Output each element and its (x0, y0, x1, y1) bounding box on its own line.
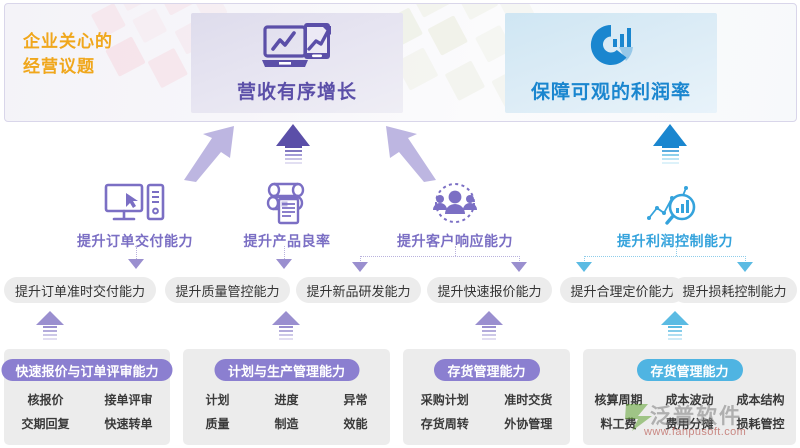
sub-capability-box[interactable]: 提升合理定价能力 (560, 277, 685, 303)
panel-item: 准时交货 (504, 391, 552, 408)
page-title: 企业关心的 经营议题 (23, 29, 183, 79)
donut-bar-chart-icon (583, 19, 639, 75)
panel-item: 制造 (274, 415, 298, 432)
panel-item: 接单评审 (104, 391, 152, 408)
page-title-line2: 经营议题 (23, 54, 183, 79)
diagram-canvas: 企业关心的 经营议题 (0, 0, 800, 448)
connector-customer-response (348, 246, 528, 278)
panel-item: 进度 (274, 391, 298, 408)
sub-capability-box[interactable]: 提升快速报价能力 (427, 277, 552, 303)
panel-plan-production[interactable]: 计划与生产管理能力 计划 进度 异常 质量 制造 效能 (183, 349, 390, 445)
arrow-up-to-profit (653, 124, 687, 166)
panel-item: 计划 (205, 391, 229, 408)
sub-capability-label: 提升合理定价能力 (570, 281, 674, 300)
customer-group-icon (380, 180, 530, 226)
sub-capability-box[interactable]: 提升订单准时交付能力 (4, 277, 156, 303)
connector-product-yield (228, 246, 318, 276)
sub-capability-box[interactable]: 提升质量管控能力 (165, 277, 290, 303)
connector-profit-control (568, 246, 753, 278)
panel-item: 料工费 (600, 415, 636, 432)
panel-cost-management[interactable]: 存货管理能力 核算周期 成本波动 成本结构 料工费 费用分摊 损耗管控 (583, 349, 796, 445)
panel-item: 存货周转 (421, 415, 469, 432)
panel-item: 外协管理 (504, 415, 552, 432)
pillar-profit-rate[interactable]: 保障可观的利润率 (505, 13, 717, 113)
panel-inventory-management[interactable]: 存货管理能力 采购计划 准时交货 存货周转 外协管理 (403, 349, 570, 445)
arrow-up-panel-cost (661, 311, 689, 342)
panel-quote-order-review[interactable]: 快速报价与订单评审能力 核报价 接单评审 交期回复 快速转单 (4, 349, 170, 445)
panel-items: 核算周期 成本波动 成本结构 料工费 费用分摊 损耗管控 (583, 391, 796, 432)
arrow-diagonal-left (182, 124, 264, 187)
panel-title: 计划与生产管理能力 (214, 359, 359, 381)
panel-title: 存货管理能力 (433, 359, 539, 381)
panel-item: 交期回复 (21, 415, 69, 432)
connector-order-delivery (78, 246, 138, 276)
panel-item: 核报价 (27, 391, 63, 408)
capability-profit-control[interactable]: 提升利润控制能力 (600, 180, 750, 251)
sub-capability-box[interactable]: 提升新品研发能力 (296, 277, 421, 303)
desktop-computer-icon (60, 180, 210, 226)
capability-customer-response[interactable]: 提升客户响应能力 (380, 180, 530, 251)
arrow-up-panel-inventory (475, 311, 503, 342)
arrow-up-panel-production (272, 311, 300, 342)
panel-items: 计划 进度 异常 质量 制造 效能 (183, 391, 390, 432)
panel-items: 采购计划 准时交货 存货周转 外协管理 (403, 391, 570, 432)
sub-capability-label: 提升损耗控制能力 (682, 281, 786, 300)
page-title-line1: 企业关心的 (23, 29, 183, 54)
sub-capability-label: 提升新品研发能力 (306, 281, 410, 300)
panel-item: 损耗管控 (736, 415, 784, 432)
panel-item: 快速转单 (104, 415, 152, 432)
sub-capability-label: 提升质量管控能力 (175, 281, 279, 300)
panel-item: 成本波动 (665, 391, 713, 408)
document-scroll-icon (222, 180, 352, 226)
arrow-up-panel-quote (36, 311, 64, 342)
panel-item: 采购计划 (421, 391, 469, 408)
panel-item: 效能 (343, 415, 367, 432)
laptop-chart-icon (260, 19, 334, 75)
pillar-revenue-title: 营收有序增长 (237, 77, 357, 104)
panel-item: 费用分摊 (665, 415, 713, 432)
panel-title: 快速报价与订单评审能力 (1, 359, 172, 381)
panel-items: 核报价 接单评审 交期回复 快速转单 (4, 391, 170, 432)
panel-item: 成本结构 (736, 391, 784, 408)
panel-item: 质量 (205, 415, 229, 432)
panel-item: 核算周期 (594, 391, 642, 408)
sub-capability-box[interactable]: 提升损耗控制能力 (672, 277, 797, 303)
pillar-profit-title: 保障可观的利润率 (531, 77, 691, 104)
header-band: 企业关心的 经营议题 (4, 3, 797, 122)
sub-capability-label: 提升快速报价能力 (437, 281, 541, 300)
analytics-magnifier-icon (600, 180, 750, 226)
arrow-up-to-revenue (276, 124, 310, 166)
sub-capability-label: 提升订单准时交付能力 (15, 281, 145, 300)
capability-product-yield[interactable]: 提升产品良率 (222, 180, 352, 251)
panel-title: 存货管理能力 (636, 359, 742, 381)
panel-item: 异常 (343, 391, 367, 408)
arrow-diagonal-right (356, 124, 438, 187)
pillar-revenue-growth[interactable]: 营收有序增长 (191, 13, 403, 113)
capability-order-delivery[interactable]: 提升订单交付能力 (60, 180, 210, 251)
